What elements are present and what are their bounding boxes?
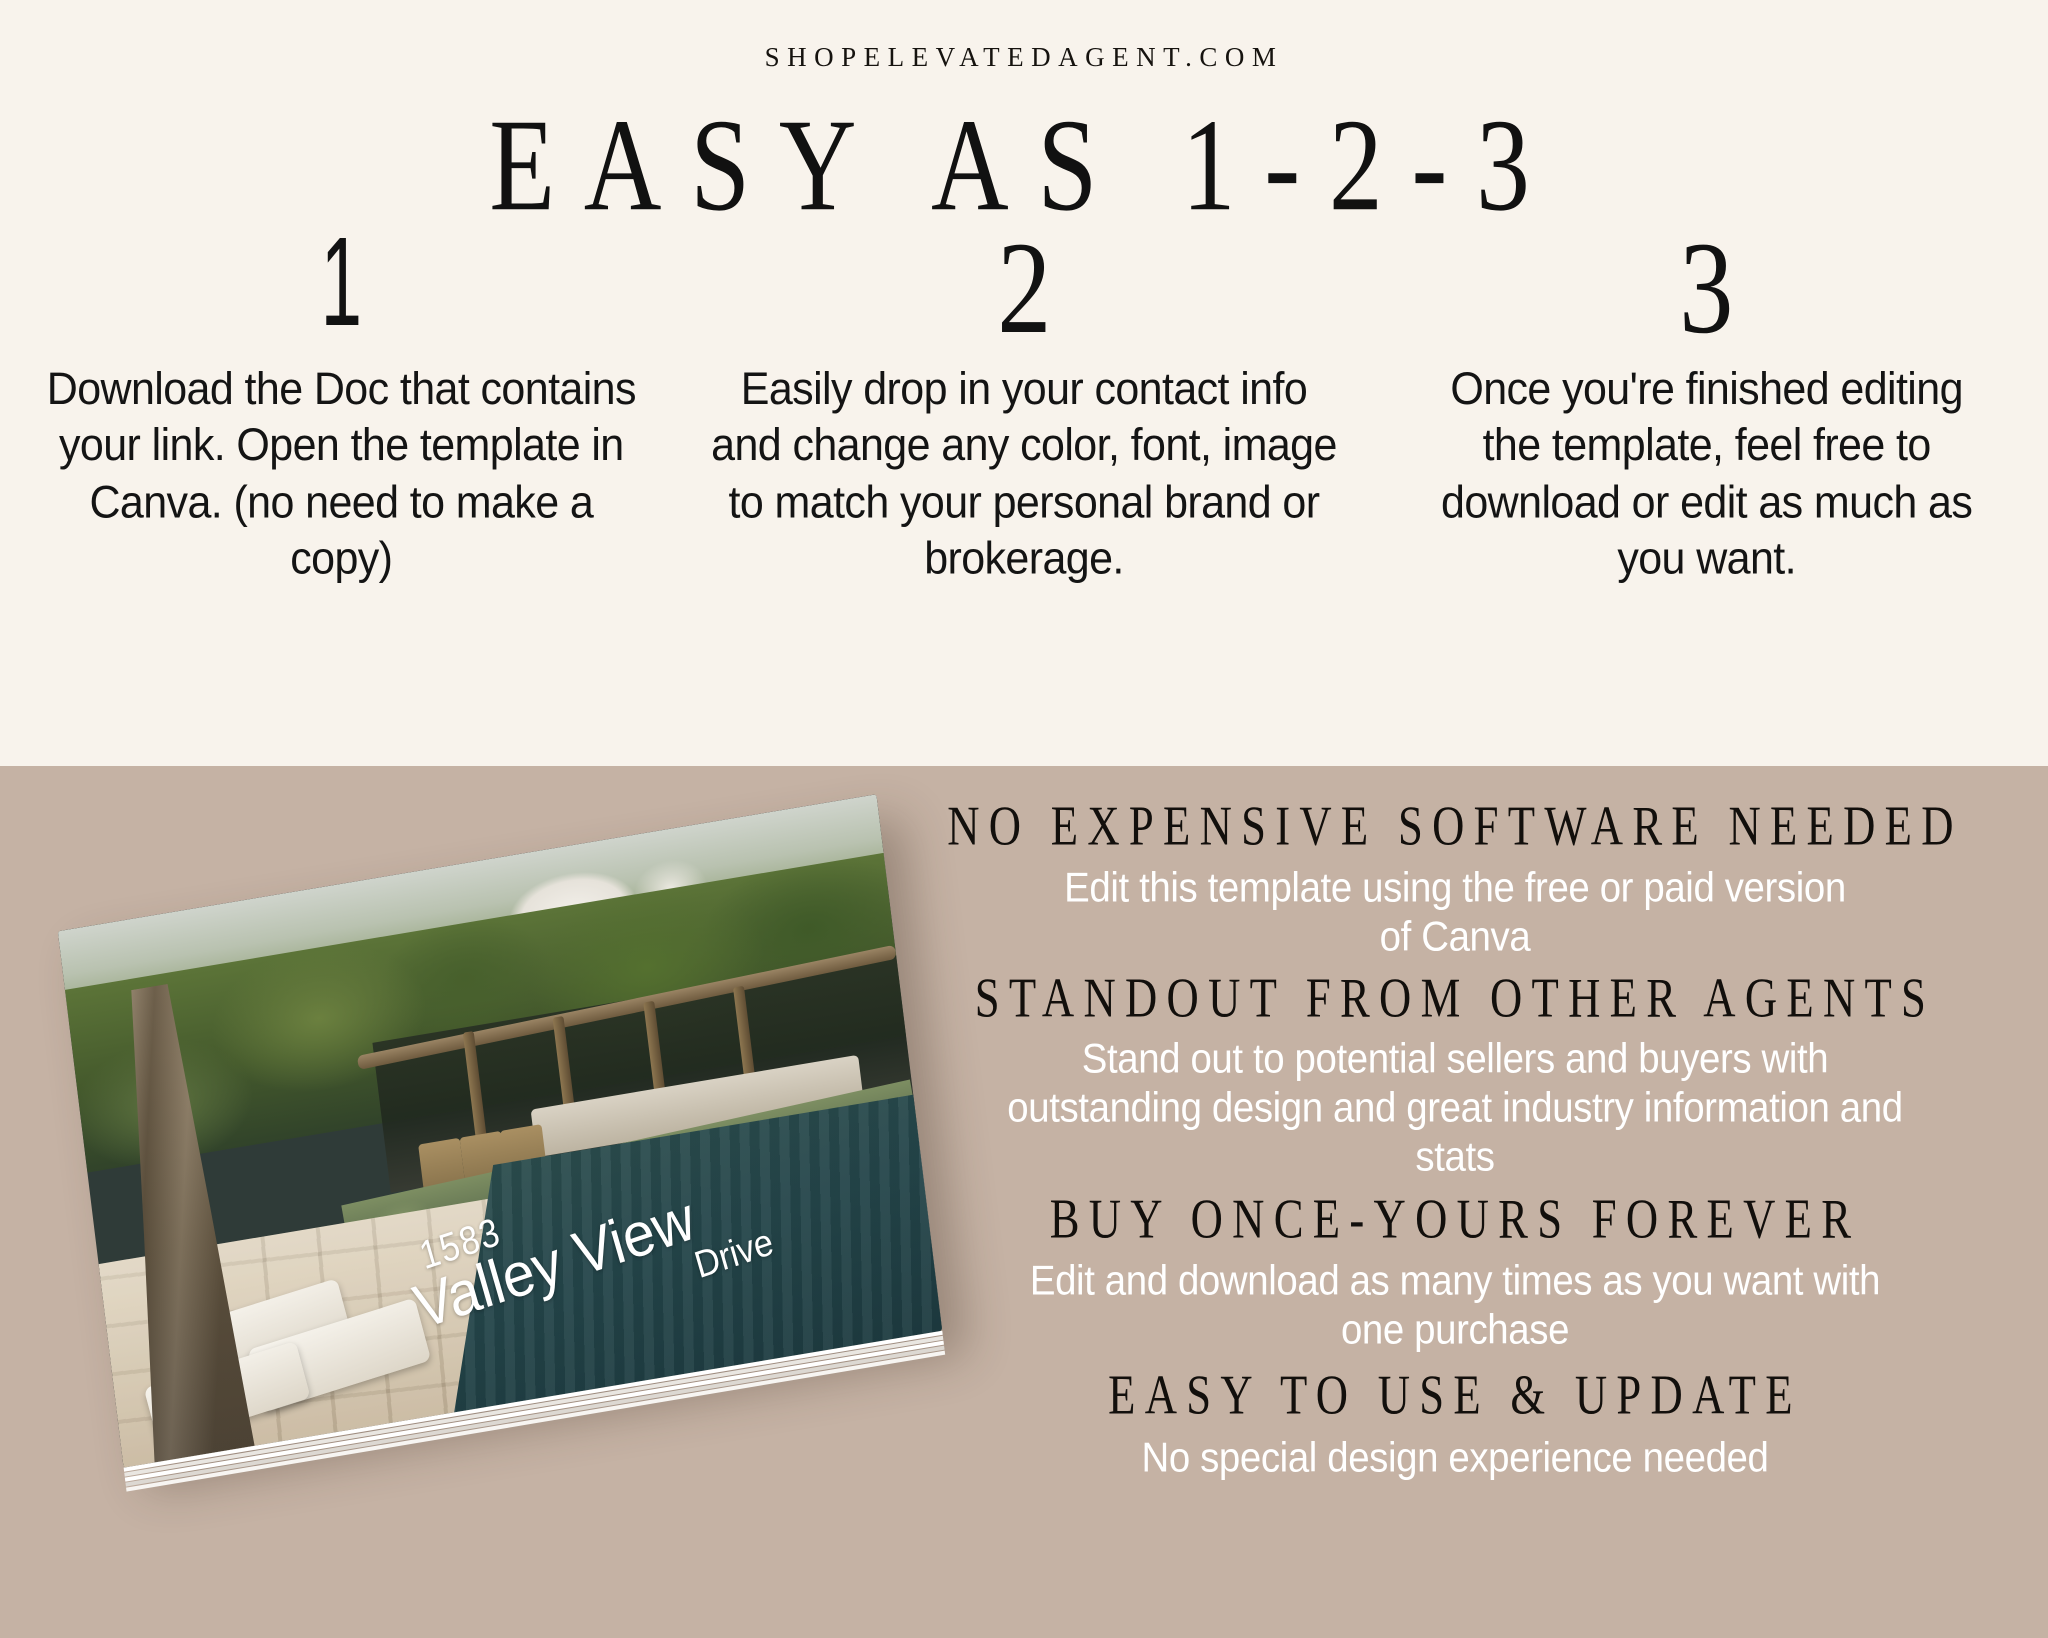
feature-4-description: No special design experience needed: [903, 1434, 2007, 1483]
feature-no-expensive-software: NO EXPENSIVE SOFTWARE NEEDED Edit this t…: [880, 802, 2030, 960]
feature-list: NO EXPENSIVE SOFTWARE NEEDED Edit this t…: [880, 802, 2030, 1490]
feature-1-title: NO EXPENSIVE SOFTWARE NEEDED: [920, 798, 1990, 856]
feature-4-title: EASY TO USE & UPDATE: [920, 1367, 1990, 1425]
step-2: 2 Easily drop in your contact info and c…: [683, 222, 1366, 652]
brochure-cover-image: 1583 Valley View Drive: [58, 794, 942, 1467]
step-1-number: 1: [130, 219, 553, 343]
feature-1-description: Edit this template using the free or pai…: [903, 865, 2007, 962]
feature-2-title: STANDOUT FROM OTHER AGENTS: [920, 970, 1990, 1028]
steps-row: 1 Download the Doc that contains your li…: [0, 222, 2048, 652]
feature-2-description: Stand out to potential sellers and buyer…: [903, 1036, 2007, 1182]
step-3-text: Once you're finished editing the templat…: [1365, 362, 2048, 588]
benefits-section: 1583 Valley View Drive NO EXPENSIVE SOFT…: [0, 766, 2048, 1638]
feature-buy-once-yours-forever: BUY ONCE-YOURS FOREVER Edit and download…: [880, 1195, 2030, 1353]
feature-easy-to-use-and-update: EASY TO USE & UPDATE No special design e…: [880, 1371, 2030, 1482]
feature-standout-from-other-agents: STANDOUT FROM OTHER AGENTS Stand out to …: [880, 974, 2030, 1179]
step-1-text: Download the Doc that contains your link…: [0, 362, 683, 588]
instructions-section: SHOPELEVATEDAGENT.COM EASY AS 1-2-3 1 Do…: [0, 0, 2048, 766]
feature-3-description: Edit and download as many times as you w…: [903, 1257, 2007, 1354]
step-1: 1 Download the Doc that contains your li…: [0, 222, 683, 652]
step-3-number: 3: [1427, 222, 1987, 340]
step-2-number: 2: [744, 222, 1304, 340]
step-3: 3 Once you're finished editing the templ…: [1365, 222, 2048, 652]
site-url: SHOPELEVATEDAGENT.COM: [0, 42, 2048, 73]
brochure-mockup: 1583 Valley View Drive: [55, 821, 975, 1481]
step-2-text: Easily drop in your contact info and cha…: [683, 362, 1366, 588]
feature-3-title: BUY ONCE-YOURS FOREVER: [920, 1191, 1990, 1249]
